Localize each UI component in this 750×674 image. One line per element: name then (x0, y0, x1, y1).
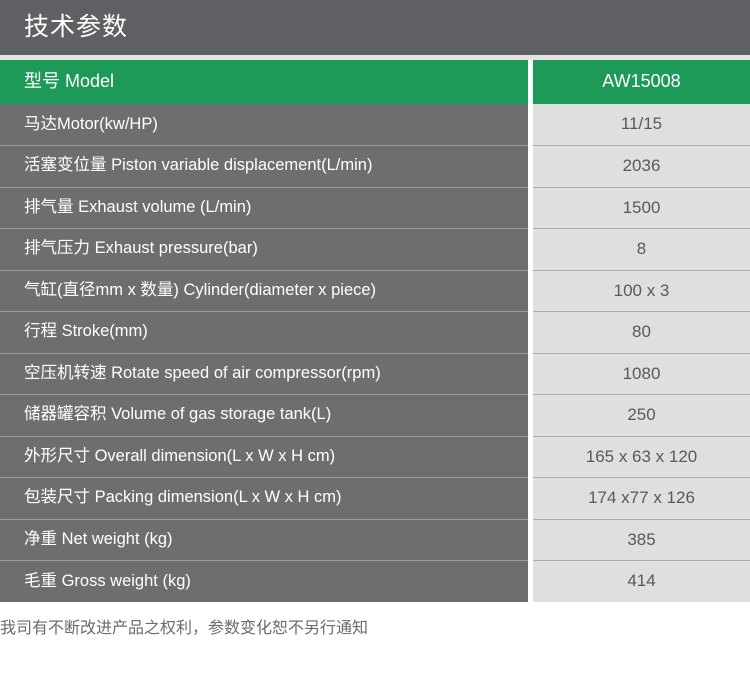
row-label: 马达Motor(kw/HP) (0, 104, 528, 146)
table-row: 包装尺寸 Packing dimension(L x W x H cm) 174… (0, 478, 750, 520)
row-label: 储器罐容积 Volume of gas storage tank(L) (0, 395, 528, 437)
row-value: 250 (533, 395, 750, 437)
row-label: 行程 Stroke(mm) (0, 312, 528, 354)
table-row: 排气压力 Exhaust pressure(bar) 8 (0, 229, 750, 271)
table-row: 空压机转速 Rotate speed of air compressor(rpm… (0, 353, 750, 395)
table-row: 毛重 Gross weight (kg) 414 (0, 561, 750, 603)
row-value: 100 x 3 (533, 270, 750, 312)
page-title: 技术参数 (24, 15, 128, 40)
specifications-table-body: 型号 Model AW15008 马达Motor(kw/HP) 11/15 活塞… (0, 60, 750, 602)
row-label: 空压机转速 Rotate speed of air compressor(rpm… (0, 353, 528, 395)
table-header-value-cell: AW15008 (533, 60, 750, 104)
row-value: 385 (533, 519, 750, 561)
row-value: 1500 (533, 187, 750, 229)
table-row: 储器罐容积 Volume of gas storage tank(L) 250 (0, 395, 750, 437)
table-header-label-cell: 型号 Model (0, 60, 528, 104)
row-value: 2036 (533, 146, 750, 188)
table-row: 马达Motor(kw/HP) 11/15 (0, 104, 750, 146)
row-value: 11/15 (533, 104, 750, 146)
section-title-bar: 技术参数 (0, 0, 750, 55)
row-value: 80 (533, 312, 750, 354)
row-label: 排气压力 Exhaust pressure(bar) (0, 229, 528, 271)
row-value: 174 x77 x 126 (533, 478, 750, 520)
row-label: 排气量 Exhaust volume (L/min) (0, 187, 528, 229)
row-label: 毛重 Gross weight (kg) (0, 561, 528, 603)
row-value: 414 (533, 561, 750, 603)
row-label: 外形尺寸 Overall dimension(L x W x H cm) (0, 436, 528, 478)
row-label: 气缸(直径mm x 数量) Cylinder(diameter x piece) (0, 270, 528, 312)
table-row: 气缸(直径mm x 数量) Cylinder(diameter x piece)… (0, 270, 750, 312)
row-label: 活塞变位量 Piston variable displacement(L/min… (0, 146, 528, 188)
table-row: 外形尺寸 Overall dimension(L x W x H cm) 165… (0, 436, 750, 478)
row-value: 165 x 63 x 120 (533, 436, 750, 478)
technical-parameters-sheet: 技术参数 型号 Model AW15008 马达Motor(kw/HP) 11/… (0, 0, 750, 640)
row-value: 8 (533, 229, 750, 271)
table-header-row: 型号 Model AW15008 (0, 60, 750, 104)
row-label: 包装尺寸 Packing dimension(L x W x H cm) (0, 478, 528, 520)
table-row: 活塞变位量 Piston variable displacement(L/min… (0, 146, 750, 188)
row-value: 1080 (533, 353, 750, 395)
table-row: 排气量 Exhaust volume (L/min) 1500 (0, 187, 750, 229)
table-row: 行程 Stroke(mm) 80 (0, 312, 750, 354)
disclaimer-note: 我司有不断改进产品之权利，参数变化恕不另行通知 (0, 602, 750, 640)
table-row: 净重 Net weight (kg) 385 (0, 519, 750, 561)
row-label: 净重 Net weight (kg) (0, 519, 528, 561)
specifications-table: 型号 Model AW15008 马达Motor(kw/HP) 11/15 活塞… (0, 60, 750, 602)
